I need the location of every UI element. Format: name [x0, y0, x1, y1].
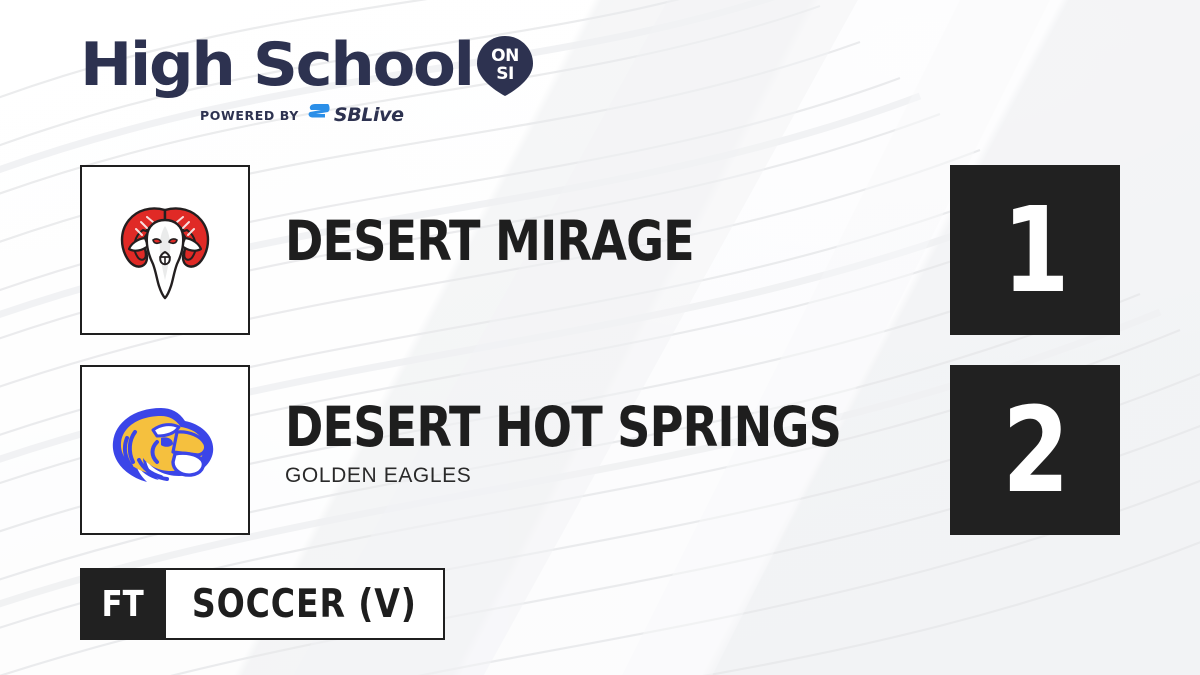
- powered-by-label: POWERED BY: [200, 108, 299, 123]
- status-period-label: FT: [102, 584, 144, 625]
- team-info: DESERT HOT SPRINGS GOLDEN EAGLES: [285, 397, 1025, 488]
- powered-by-row: POWERED BY SBLive: [80, 106, 510, 124]
- team-name: DESERT HOT SPRINGS: [285, 397, 907, 457]
- scoreboard-graphic: High School ON SI POWERED BY SBLive: [0, 0, 1200, 675]
- game-status-bar: FT SOCCER (V): [80, 568, 445, 640]
- sblive-logo: SBLive: [308, 103, 404, 127]
- team-info: DESERT MIRAGE: [285, 211, 1025, 271]
- team-score-box: 2: [950, 365, 1120, 535]
- brand-wordmark-row: High School ON SI: [80, 34, 510, 96]
- team-logo-box: [80, 365, 250, 535]
- brand-logo: High School ON SI POWERED BY SBLive: [80, 34, 510, 134]
- sblive-wordmark: SBLive: [334, 104, 404, 126]
- svg-text:SI: SI: [496, 64, 514, 84]
- status-period-badge: FT: [80, 568, 166, 640]
- team-mascot: GOLDEN EAGLES: [285, 464, 1025, 488]
- team-logo-box: [80, 165, 250, 335]
- team-name: DESERT MIRAGE: [285, 211, 907, 271]
- sblive-arrow-icon: [308, 103, 330, 127]
- team-score: 1: [1002, 191, 1068, 309]
- team-score-box: 1: [950, 165, 1120, 335]
- eagle-head-logo: [101, 394, 229, 506]
- svg-text:ON: ON: [491, 46, 519, 66]
- status-sport-badge: SOCCER (V): [166, 568, 445, 640]
- location-pin-icon: ON SI: [474, 34, 536, 96]
- brand-wordmark: High School: [80, 34, 473, 96]
- status-sport-label: SOCCER (V): [192, 582, 417, 627]
- team-score: 2: [1002, 391, 1068, 509]
- ram-head-logo: [101, 186, 229, 314]
